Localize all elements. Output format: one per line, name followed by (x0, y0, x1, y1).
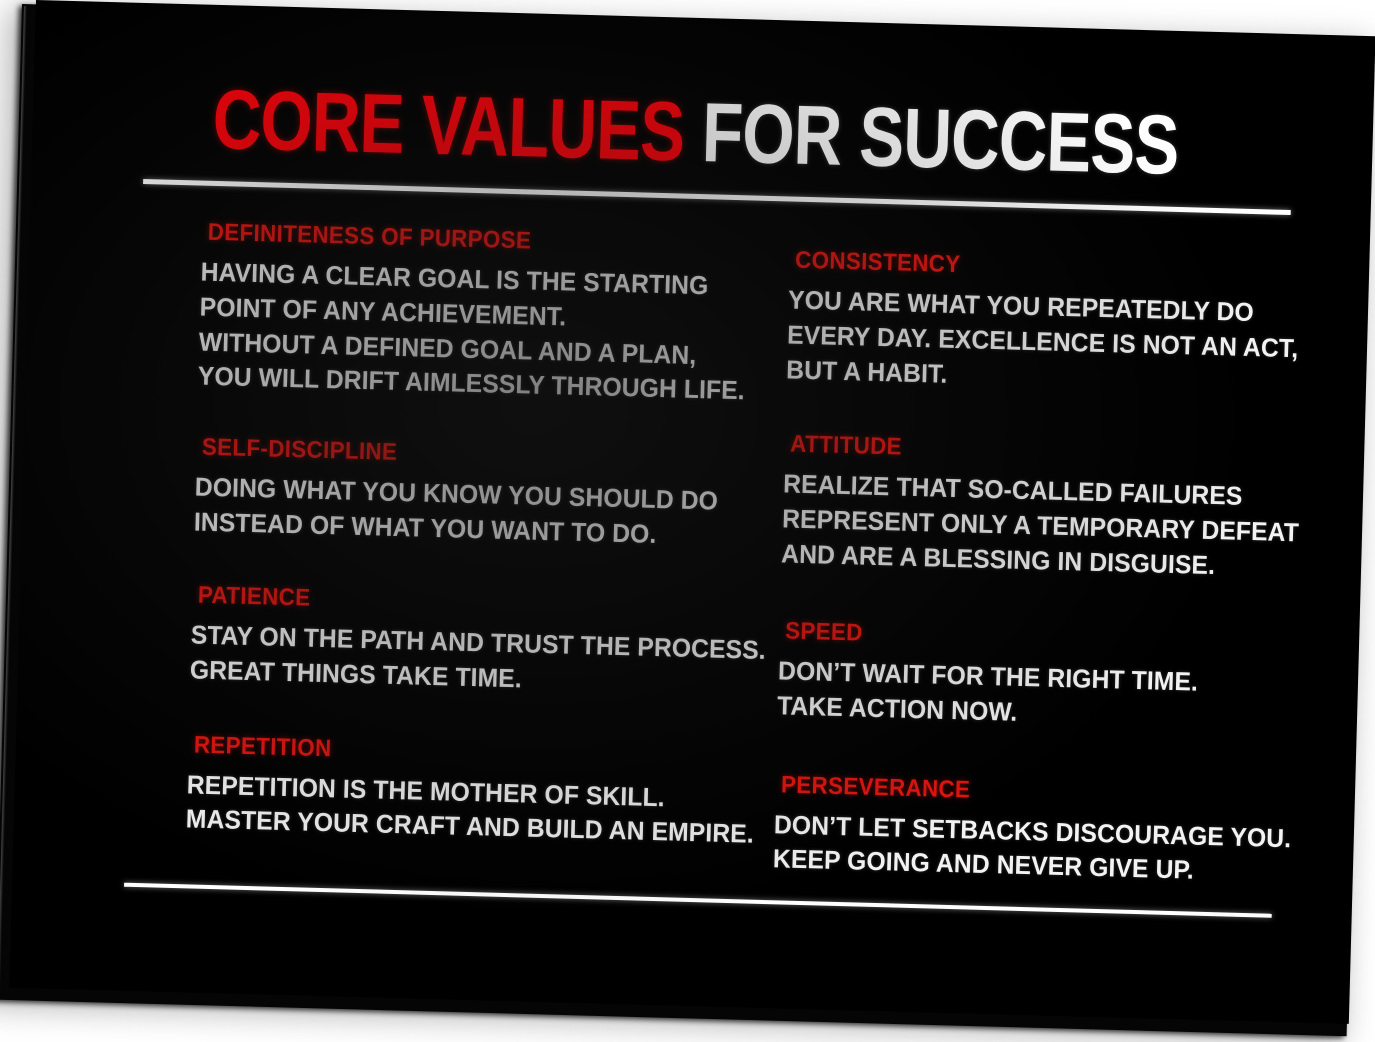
title-red-part: CORE VALUES (212, 72, 686, 179)
values-column-right: CONSISTENCYYOU ARE WHAT YOU REPEATEDLY D… (773, 246, 1260, 889)
footer-divider-rule (124, 883, 1272, 918)
canvas-art-stage: CORE VALUES FOR SUCCESS DEFINITENESS OF … (0, 0, 1375, 1027)
value-heading: PERSEVERANCE (781, 771, 1213, 811)
value-heading: PATIENCE (198, 582, 677, 623)
value-block-self-discipline: SELF-DISCIPLINEDOING WHAT YOU KNOW YOU S… (193, 434, 716, 554)
values-column-left: DEFINITENESS OF PURPOSEHAVING A CLEAR GO… (185, 219, 722, 851)
value-block-repetition: REPETITIONREPETITION IS THE MOTHER OF SK… (185, 731, 708, 851)
value-block-consistency: CONSISTENCYYOU ARE WHAT YOU REPEATEDLY D… (786, 246, 1260, 399)
value-heading: SELF-DISCIPLINE (202, 434, 681, 475)
value-block-definiteness-of-purpose: DEFINITENESS OF PURPOSEHAVING A CLEAR GO… (197, 219, 722, 408)
value-block-speed: SPEEDDON’T WAIT FOR THE RIGHT TIME.TAKE … (777, 617, 1250, 735)
page-title: CORE VALUES FOR SUCCESS (212, 77, 1180, 187)
value-heading: REPETITION (194, 731, 673, 772)
value-heading: CONSISTENCY (795, 247, 1227, 287)
title-white-part: FOR SUCCESS (701, 85, 1180, 192)
value-block-perseverance: PERSEVERANCEDON’T LET SETBACKS DISCOURAG… (773, 771, 1246, 889)
canvas-printed-face: CORE VALUES FOR SUCCESS DEFINITENESS OF … (9, 0, 1375, 1024)
value-block-patience: PATIENCESTAY ON THE PATH AND TRUST THE P… (189, 581, 712, 701)
value-heading: SPEED (785, 617, 1217, 657)
value-heading: DEFINITENESS OF PURPOSE (207, 219, 686, 260)
value-heading: ATTITUDE (790, 431, 1222, 471)
value-block-attitude: ATTITUDEREALIZE THAT SO-CALLED FAILURESR… (781, 431, 1255, 584)
poster-content: CORE VALUES FOR SUCCESS DEFINITENESS OF … (9, 0, 1375, 1024)
